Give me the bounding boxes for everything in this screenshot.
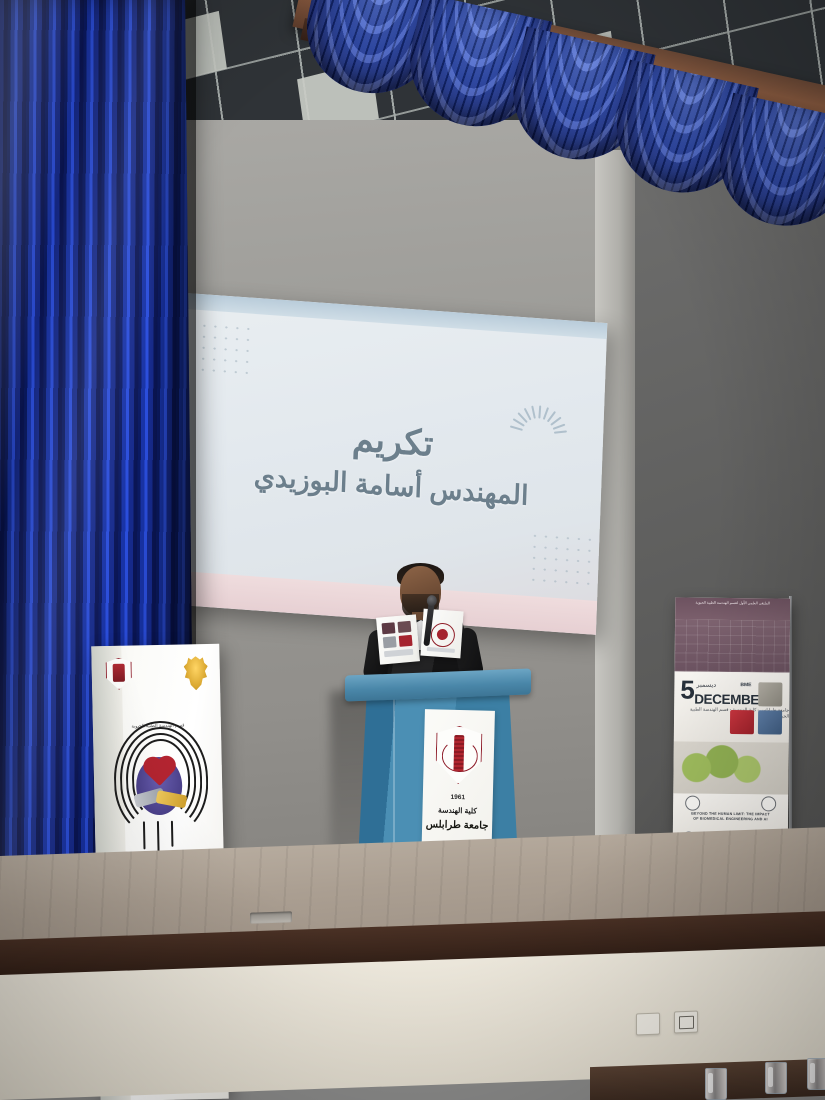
banner-tagline-line2: OF BIOMEDICAL ENGINEERING AND AI bbox=[676, 817, 785, 823]
logo-arc-text: قسم الهندسة الطبية الحيوية bbox=[121, 722, 196, 764]
sponsor-logo-icon bbox=[761, 796, 776, 811]
sponsor-logo-icon bbox=[685, 796, 700, 811]
wall-pillar bbox=[595, 150, 635, 950]
water-glass bbox=[807, 1058, 825, 1090]
banner-foliage-photo bbox=[673, 741, 789, 794]
program-booklet-left-page bbox=[376, 614, 420, 664]
banner-month-arabic: ديسمبر bbox=[696, 681, 716, 689]
power-outlet-icon bbox=[674, 1011, 698, 1034]
banner-tagline: BEYOND THE HUMAN LIMIT: THE IMPACT OF BI… bbox=[676, 811, 785, 823]
dot-grid-icon bbox=[197, 320, 257, 382]
banner-photo-band bbox=[675, 619, 791, 672]
national-emblem-icon bbox=[183, 656, 208, 690]
booklet-crest-icon bbox=[430, 622, 456, 648]
banner-tile-red bbox=[730, 710, 754, 734]
banner-tile-blue bbox=[758, 710, 782, 734]
podium-sign-university: جامعة طرابلس bbox=[422, 819, 492, 832]
banner-tile-gray bbox=[758, 682, 782, 706]
podium-sign-faculty: كلية الهندسة bbox=[422, 805, 492, 816]
stage-floor-socket-icon bbox=[250, 911, 292, 923]
power-outlet-icon bbox=[636, 1013, 660, 1036]
banner-day-number: 5 bbox=[680, 679, 694, 700]
banner-header-text: الملتقى العلمي الأول لقسم الهندسة الطبية… bbox=[678, 600, 787, 605]
university-crest-icon bbox=[435, 725, 482, 784]
university-crest-icon bbox=[105, 658, 132, 691]
right-rollup-banner: الملتقى العلمي الأول لقسم الهندسة الطبية… bbox=[673, 597, 791, 848]
biomedical-engineering-logo-icon: قسم الهندسة الطبية الحيوية bbox=[111, 716, 208, 858]
banner-bme-label: BME bbox=[740, 682, 751, 688]
auditorium-stage-photo: تكريم المهندس أسامة البوزيدي bbox=[0, 0, 825, 1100]
water-glass bbox=[765, 1062, 787, 1094]
podium-sign-year: 1961 bbox=[423, 793, 493, 802]
banner-header-bar: الملتقى العلمي الأول لقسم الهندسة الطبية… bbox=[675, 597, 790, 620]
dot-grid-icon bbox=[528, 530, 592, 590]
banner-title-band: 5 ديسمبر BME DECEMBER جامعة طرابلس - كلي… bbox=[674, 671, 790, 742]
water-glass bbox=[705, 1068, 727, 1100]
